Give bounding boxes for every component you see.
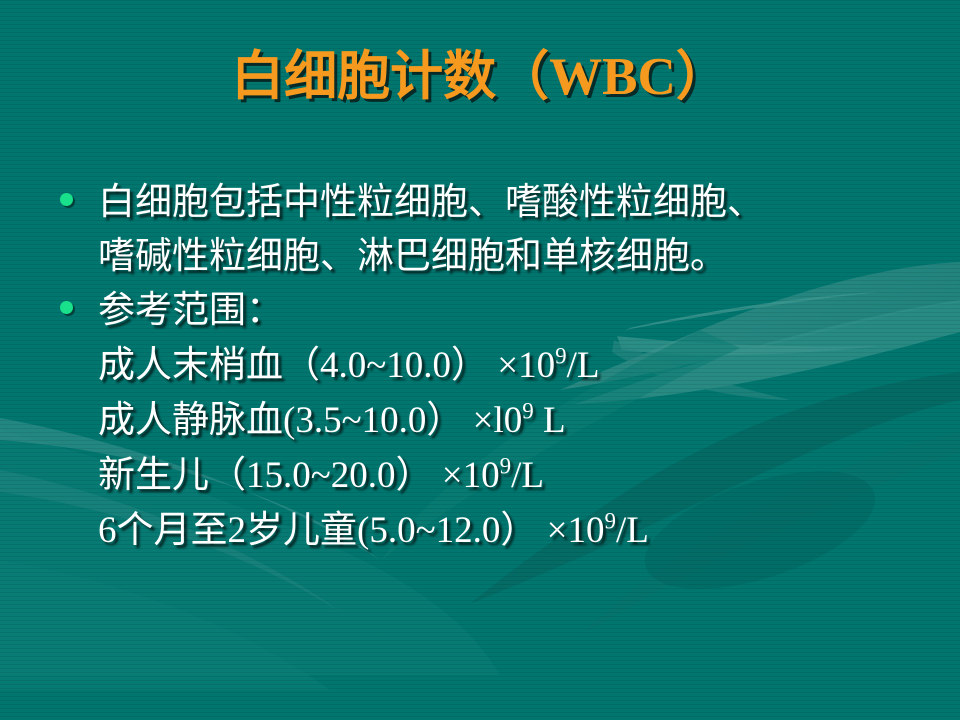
reference-range-row: 成人静脉血(3.5~10.0） ×l09 L [48, 393, 928, 448]
range-exponent: 9 [500, 454, 511, 479]
range-base: 10 [463, 455, 500, 496]
range-base: l0 [493, 400, 522, 441]
bullet-1-line-2: 嗜碱性粒细胞、淋巴细胞和单核细胞。 [98, 230, 928, 284]
bullet-2-line-1: 参考范围： [98, 284, 928, 338]
range-label: 新生儿 [98, 455, 209, 496]
range-times-sign: × [497, 345, 518, 386]
reference-range-list: 成人末梢血（4.0~10.0） ×109/L 成人静脉血(3.5~10.0） ×… [48, 338, 928, 558]
range-unit: /L [567, 345, 600, 386]
range-value: (3.5~10.0） [283, 400, 463, 441]
range-exponent: 9 [555, 344, 566, 369]
bullet-dot-icon [60, 193, 73, 206]
range-value: (5.0~12.0） [357, 510, 537, 551]
reference-range-row: 成人末梢血（4.0~10.0） ×109/L [48, 338, 928, 393]
range-base: 10 [518, 345, 555, 386]
range-unit: /L [616, 510, 649, 551]
range-label: 6个月至2岁儿童 [98, 510, 357, 551]
range-value: （15.0~20.0） [209, 455, 433, 496]
reference-range-row: 6个月至2岁儿童(5.0~12.0） ×109/L [48, 503, 928, 558]
range-unit: L [534, 400, 566, 441]
range-exponent: 9 [522, 399, 533, 424]
range-base: 10 [567, 510, 604, 551]
range-value: （4.0~10.0） [283, 345, 488, 386]
page-title: 白细胞计数（WBC） [0, 48, 960, 107]
bullet-1-line-1: 白细胞包括中性粒细胞、嗜酸性粒细胞、 [98, 176, 928, 230]
range-label: 成人静脉血 [98, 400, 283, 441]
range-label: 成人末梢血 [98, 345, 283, 386]
bullet-dot-icon [60, 301, 73, 314]
reference-range-row: 新生儿（15.0~20.0） ×109/L [48, 448, 928, 503]
list-item: 白细胞包括中性粒细胞、嗜酸性粒细胞、 嗜碱性粒细胞、淋巴细胞和单核细胞。 [48, 176, 928, 284]
range-exponent: 9 [604, 509, 615, 534]
list-item: 参考范围： [48, 284, 928, 338]
slide-canvas: 白细胞计数（WBC） 白细胞包括中性粒细胞、嗜酸性粒细胞、 嗜碱性粒细胞、淋巴细… [0, 0, 960, 720]
range-times-sign: × [473, 400, 494, 441]
range-times-sign: × [547, 510, 568, 551]
range-unit: /L [511, 455, 544, 496]
range-times-sign: × [442, 455, 463, 496]
content-body: 白细胞包括中性粒细胞、嗜酸性粒细胞、 嗜碱性粒细胞、淋巴细胞和单核细胞。 参考范… [48, 176, 928, 558]
